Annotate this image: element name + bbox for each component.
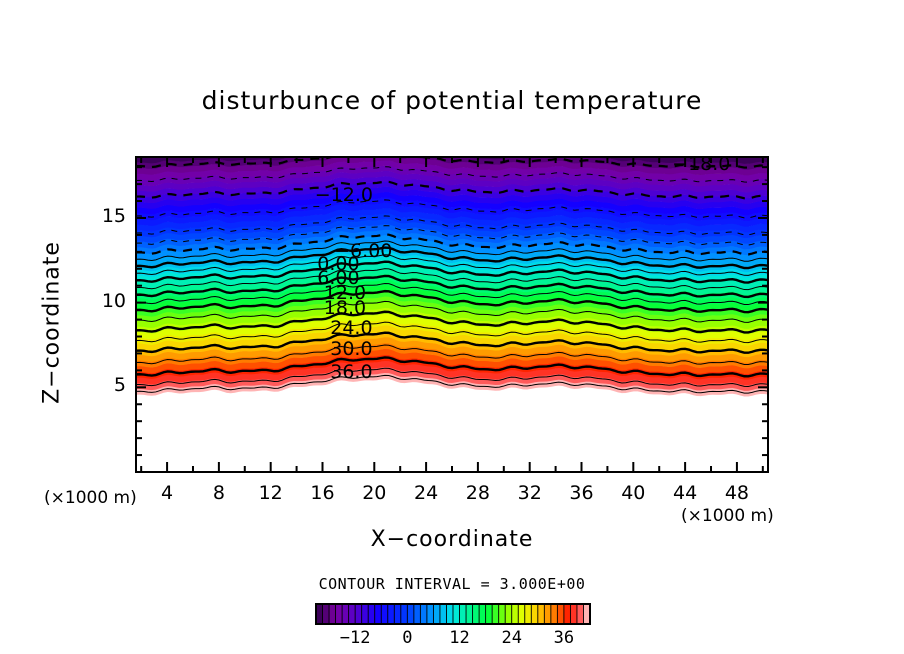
colorbar-band (486, 604, 493, 624)
x-tick-label: 36 (562, 482, 602, 504)
colorbar-band (323, 604, 330, 624)
x-tick-label: 8 (199, 482, 239, 504)
colorbar-band (577, 604, 584, 624)
colorbar-band (492, 604, 499, 624)
colorbar-band (531, 604, 538, 624)
colorbar-band (349, 604, 356, 624)
colorbar-band (512, 604, 519, 624)
colorbar (316, 604, 590, 624)
colorbar-band (440, 604, 447, 624)
colorbar-tick-label: 0 (387, 628, 427, 648)
x-tick-label: 40 (613, 482, 653, 504)
colorbar-band (401, 604, 408, 624)
x-tick-label: 32 (510, 482, 550, 504)
colorbar-tick-label: 12 (440, 628, 480, 648)
y-tick-label: 15 (41, 205, 126, 227)
contour-label: 30.0 (330, 340, 372, 359)
colorbar-band (460, 604, 467, 624)
x-tick-label: 44 (665, 482, 705, 504)
colorbar-band (538, 604, 545, 624)
colorbar-band (551, 604, 558, 624)
colorbar-band (564, 604, 571, 624)
colorbar-band (518, 604, 525, 624)
colorbar-band (368, 604, 375, 624)
contour-fill-bands (136, 144, 768, 396)
colorbar-tick-label: 24 (492, 628, 532, 648)
colorbar-band (557, 604, 564, 624)
colorbar-band (505, 604, 512, 624)
colorbar-band (570, 604, 577, 624)
x-tick-label: 4 (147, 482, 187, 504)
colorbar-band (355, 604, 362, 624)
x-tick-label: 20 (354, 482, 394, 504)
figure-canvas: disturbunce of potential temperature Z−c… (0, 0, 904, 654)
contour-label: 18.0 (324, 299, 366, 318)
colorbar-band (479, 604, 486, 624)
colorbar-band (375, 604, 382, 624)
y-tick-label: 10 (41, 290, 126, 312)
colorbar-band (453, 604, 460, 624)
colorbar-band (433, 604, 440, 624)
colorbar-band (446, 604, 453, 624)
colorbar-band (381, 604, 388, 624)
colorbar-band (407, 604, 414, 624)
colorbar-band (473, 604, 480, 624)
colorbar-band (525, 604, 532, 624)
colorbar-band (466, 604, 473, 624)
contour-label: −18.0 (672, 155, 730, 174)
colorbar-band (544, 604, 551, 624)
x-tick-label: 16 (302, 482, 342, 504)
colorbar-band (427, 604, 434, 624)
colorbar-band (499, 604, 506, 624)
colorbar-band (316, 604, 323, 624)
colorbar-band (394, 604, 401, 624)
x-tick-label: 48 (717, 482, 757, 504)
colorbar-band (388, 604, 395, 624)
colorbar-tick-label: 36 (544, 628, 584, 648)
x-tick-label: 24 (406, 482, 446, 504)
colorbar-band (336, 604, 343, 624)
colorbar-band (362, 604, 369, 624)
contour-label: 24.0 (330, 319, 372, 338)
colorbar-band (329, 604, 336, 624)
x-tick-label: 12 (251, 482, 291, 504)
y-tick-label: 5 (41, 374, 126, 396)
colorbar-band (342, 604, 349, 624)
colorbar-band (414, 604, 421, 624)
contour-label: −12.0 (315, 186, 373, 205)
x-tick-label: 28 (458, 482, 498, 504)
contour-plot (0, 0, 904, 654)
contour-label: 36.0 (330, 363, 372, 382)
colorbar-tick-label: −12 (335, 628, 375, 648)
colorbar-band (420, 604, 427, 624)
